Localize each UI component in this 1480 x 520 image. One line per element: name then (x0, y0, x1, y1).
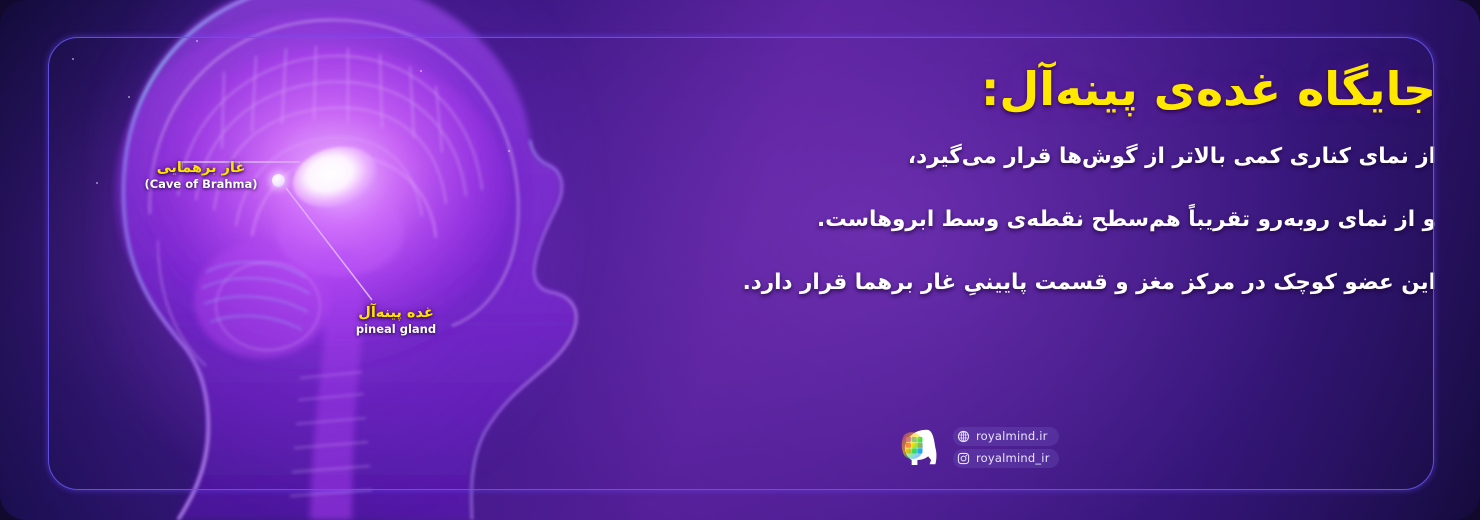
label-cave-of-brahma-en: (Cave of Brahma) (136, 178, 266, 191)
body-paragraph-1: از نمای کناری کمی بالاتر از گوش‌ها قرار … (616, 142, 1436, 171)
body-paragraph-2: و از نمای روبه‌رو تقریباً هم‌سطح نقطه‌ی … (616, 205, 1436, 234)
sparkle-icon (128, 96, 130, 98)
label-pineal-gland-fa: غده پینه‌آل (326, 305, 466, 321)
instagram-icon (957, 452, 970, 465)
website-chip[interactable]: royalmind.ir (953, 427, 1059, 446)
head-aura-glow (90, 0, 610, 520)
label-cave-of-brahma: غار برهمایی (Cave of Brahma) (136, 160, 266, 191)
instagram-chip[interactable]: royalmind_ir (953, 449, 1059, 468)
globe-icon (957, 430, 970, 443)
instagram-handle-text: royalmind_ir (976, 451, 1050, 465)
infographic-banner: غار برهمایی (Cave of Brahma) غده پینه‌آل… (0, 0, 1480, 520)
anatomical-head-illustration: غار برهمایی (Cave of Brahma) غده پینه‌آل… (0, 0, 640, 520)
text-content-block: جایگاه غده‌ی پینه‌آل: از نمای کناری کمی … (616, 62, 1436, 297)
sparkle-icon (196, 40, 198, 42)
rainbow-brain-icon (902, 432, 923, 459)
page-title: جایگاه غده‌ی پینه‌آل: (616, 62, 1436, 116)
website-handle-text: royalmind.ir (976, 429, 1048, 443)
sparkle-icon (420, 70, 422, 72)
sparkle-icon (508, 150, 510, 152)
body-paragraph-3: این عضو کوچک در مرکز مغز و قسمت پایینیِ … (616, 268, 1436, 297)
label-cave-of-brahma-fa: غار برهمایی (136, 160, 266, 176)
social-handles: royalmind.ir royalmind_ir (953, 427, 1059, 468)
brand-block: royalmind.ir royalmind_ir (898, 424, 1059, 470)
pineal-point-marker (272, 174, 285, 187)
label-pineal-gland: غده پینه‌آل pineal gland (326, 305, 466, 336)
royalmind-head-brain-logo (898, 424, 944, 470)
label-pineal-gland-en: pineal gland (326, 323, 466, 336)
sparkle-icon (72, 58, 74, 60)
sparkle-icon (96, 182, 98, 184)
